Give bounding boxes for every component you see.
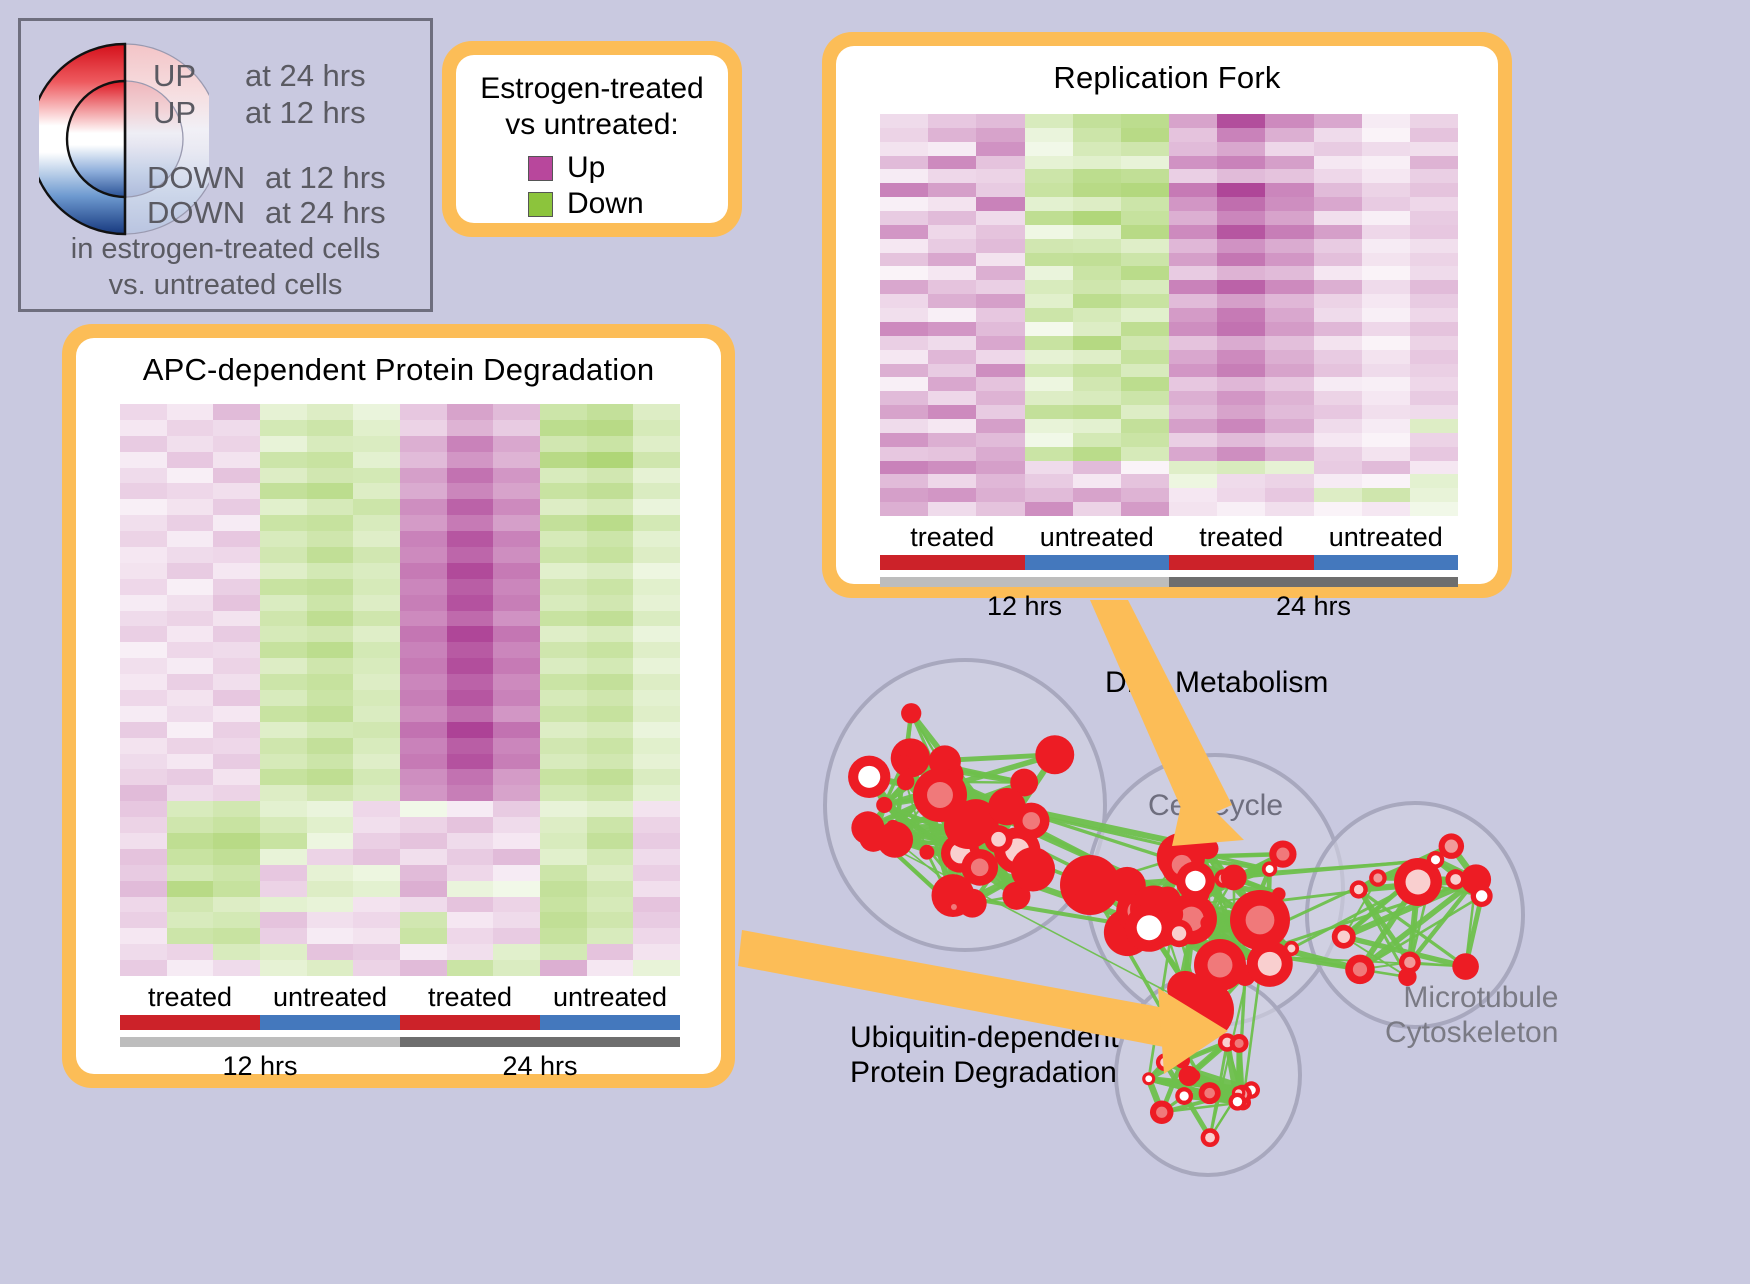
heatmap-cell — [400, 754, 447, 770]
network-label-ubiquitin-degradation: Ubiquitin-dependent Protein Degradation — [850, 1020, 1119, 1091]
heatmap-cell — [1265, 419, 1313, 433]
heatmap-cell — [213, 944, 260, 960]
heatmap-cell — [540, 420, 587, 436]
heatmap-cell — [1265, 280, 1313, 294]
network-node-core — [1160, 1058, 1169, 1067]
heatmap-cell — [447, 642, 494, 658]
down-label: Down — [567, 187, 644, 221]
heatmap-cell — [1217, 197, 1265, 211]
heatmap-cell — [167, 801, 214, 817]
network-node — [1452, 953, 1479, 980]
heatmap-cell — [1410, 266, 1458, 280]
timepoint-label: 24 hrs — [1169, 591, 1458, 622]
heatmap-cell — [307, 563, 354, 579]
heatmap-cell — [493, 912, 540, 928]
heatmap-cell — [260, 515, 307, 531]
heatmap-cell — [928, 253, 976, 267]
heatmap-cell — [1410, 183, 1458, 197]
heatmap-cell — [1073, 405, 1121, 419]
network-node-core — [1476, 890, 1487, 901]
heatmap-cell — [120, 738, 167, 754]
heatmap-cell — [167, 547, 214, 563]
heatmap-cell — [633, 611, 680, 627]
heatmap-cell — [1362, 377, 1410, 391]
heatmap-cell — [928, 405, 976, 419]
heatmap-cell — [587, 626, 634, 642]
heatmap-cell — [307, 658, 354, 674]
heatmap-cell — [400, 579, 447, 595]
heatmap-cell — [353, 690, 400, 706]
heatmap-cell — [633, 897, 680, 913]
timepoint-label-row: 12 hrs24 hrs — [880, 591, 1458, 622]
heatmap-cell — [120, 579, 167, 595]
heatmap-cell — [587, 468, 634, 484]
heatmap-cell — [1121, 350, 1169, 364]
heatmap-cell — [928, 266, 976, 280]
heatmap-cell — [353, 912, 400, 928]
heatmap-cell — [633, 674, 680, 690]
heatmap-cell — [353, 738, 400, 754]
network-node-core — [1404, 957, 1415, 968]
heatmap-cell — [447, 769, 494, 785]
heatmap-cell — [1217, 156, 1265, 170]
heatmap-cell — [1314, 114, 1362, 128]
heatmap-cell — [213, 595, 260, 611]
heatmap-cell — [587, 960, 634, 976]
heatmap-cell — [976, 253, 1024, 267]
heatmap-cell — [976, 447, 1024, 461]
heatmap-cell — [540, 754, 587, 770]
heatmap-cell — [1314, 197, 1362, 211]
ring-row-1-direction: UP — [153, 95, 196, 131]
heatmap-cell — [976, 336, 1024, 350]
heatmap-cell — [1265, 461, 1313, 475]
heatmap-cell — [633, 849, 680, 865]
heatmap-cell — [400, 436, 447, 452]
heatmap-cell — [307, 531, 354, 547]
heatmap-cell — [167, 897, 214, 913]
heatmap-cell — [120, 706, 167, 722]
heatmap-cell — [633, 754, 680, 770]
heatmap-cell — [928, 474, 976, 488]
heatmap-cell — [307, 801, 354, 817]
heatmap-cell — [213, 738, 260, 754]
heatmap-cell — [167, 611, 214, 627]
ring-row-3-time: at 24 hrs — [265, 195, 386, 231]
heatmap-cell — [587, 865, 634, 881]
heatmap-cell — [353, 722, 400, 738]
heatmap-cell — [167, 912, 214, 928]
heatmap-cell — [1410, 391, 1458, 405]
network-node-core — [971, 859, 989, 877]
heatmap-cell — [1025, 447, 1073, 461]
heatmap-cell — [880, 350, 928, 364]
heatmap-cell — [587, 817, 634, 833]
heatmap-cell — [928, 197, 976, 211]
heatmap-cell — [213, 833, 260, 849]
heatmap-cell — [213, 579, 260, 595]
heatmap-cell — [493, 674, 540, 690]
heatmap-cell — [928, 183, 976, 197]
microtubule-line1: Microtubule — [1385, 980, 1558, 1015]
heatmap-cell — [1121, 336, 1169, 350]
heatmap-cell — [260, 833, 307, 849]
condition-label: treated — [120, 982, 260, 1013]
heatmap-cell — [633, 738, 680, 754]
heatmap-cell — [307, 499, 354, 515]
heatmap-cell — [880, 169, 928, 183]
heatmap-cell — [1265, 364, 1313, 378]
heatmap-cell — [976, 488, 1024, 502]
heatmap-cell — [1073, 294, 1121, 308]
heatmap-cell — [540, 706, 587, 722]
heatmap-cell — [120, 404, 167, 420]
heatmap-cell — [1025, 280, 1073, 294]
ring-row-0-time: at 24 hrs — [245, 58, 366, 94]
heatmap-cell — [1073, 461, 1121, 475]
heatmap-cell — [1169, 294, 1217, 308]
heatmap-cell — [1314, 461, 1362, 475]
heatmap-cell — [353, 928, 400, 944]
heatmap-cell — [587, 642, 634, 658]
heatmap-cell — [307, 674, 354, 690]
heatmap-cell — [447, 626, 494, 642]
network-node — [1197, 838, 1218, 859]
heatmap-cell — [353, 611, 400, 627]
heatmap-cell — [260, 595, 307, 611]
heatmap-cell — [633, 912, 680, 928]
heatmap-cell — [1073, 502, 1121, 516]
heatmap-cell — [633, 452, 680, 468]
heatmap-cell — [1025, 474, 1073, 488]
heatmap-cell — [1025, 461, 1073, 475]
heatmap-cell — [493, 754, 540, 770]
heatmap-cell — [976, 405, 1024, 419]
heatmap-cell — [880, 225, 928, 239]
heatmap-cell — [307, 960, 354, 976]
heatmap-cell — [260, 706, 307, 722]
heatmap-cell — [1025, 405, 1073, 419]
heatmap-cell — [1314, 447, 1362, 461]
heatmap-cell — [633, 515, 680, 531]
heatmap-cell — [1217, 142, 1265, 156]
heatmap-cell — [928, 350, 976, 364]
heatmap-cell — [633, 944, 680, 960]
replication-fork-panel: Replication Fork treateduntreatedtreated… — [822, 32, 1512, 598]
condition-color-segment — [400, 1015, 540, 1030]
heatmap-cell — [976, 294, 1024, 308]
heatmap-cell — [587, 563, 634, 579]
heatmap-cell — [493, 436, 540, 452]
heatmap-cell — [928, 114, 976, 128]
heatmap-cell — [1410, 197, 1458, 211]
heatmap-cell — [307, 769, 354, 785]
network-node — [1060, 855, 1120, 915]
heatmap-cell — [447, 817, 494, 833]
heatmap-cell — [400, 706, 447, 722]
heatmap-cell — [260, 563, 307, 579]
heatmap-cell — [447, 483, 494, 499]
heatmap-cell — [1362, 211, 1410, 225]
heatmap-cell — [587, 420, 634, 436]
network-node — [1035, 735, 1074, 774]
heatmap-cell — [1314, 253, 1362, 267]
heatmap-cell — [1025, 169, 1073, 183]
heatmap-cell — [1217, 211, 1265, 225]
heatmap-cell — [260, 738, 307, 754]
heatmap-cell — [353, 483, 400, 499]
heatmap-cell — [353, 626, 400, 642]
heatmap-cell — [1265, 211, 1313, 225]
network-node-core — [1373, 873, 1382, 882]
condition-color-bar — [120, 1015, 680, 1030]
heatmap-cell — [1217, 114, 1265, 128]
network-node-core — [1338, 931, 1350, 943]
heatmap-cell — [353, 960, 400, 976]
heatmap-cell — [880, 308, 928, 322]
heatmap-cell — [633, 706, 680, 722]
heatmap-cell — [167, 865, 214, 881]
heatmap-cell — [260, 499, 307, 515]
heatmap-cell — [633, 436, 680, 452]
heatmap-cell — [120, 420, 167, 436]
heatmap-cell — [167, 817, 214, 833]
network-node-core — [1258, 952, 1282, 976]
heatmap-cell — [1073, 266, 1121, 280]
heatmap-cell — [880, 253, 928, 267]
heatmap-cell — [213, 706, 260, 722]
heatmap-cell — [493, 563, 540, 579]
heatmap-cell — [1314, 183, 1362, 197]
heatmap-cell — [1169, 253, 1217, 267]
heatmap-cell — [447, 420, 494, 436]
heatmap-cell — [213, 436, 260, 452]
heatmap-cell — [447, 468, 494, 484]
heatmap-cell — [260, 849, 307, 865]
heatmap-cell — [1217, 266, 1265, 280]
heatmap-cell — [400, 928, 447, 944]
heatmap-cell — [1362, 336, 1410, 350]
heatmap-cell — [1217, 239, 1265, 253]
heatmap-cell — [1362, 474, 1410, 488]
ring-row-3-direction: DOWN — [147, 195, 245, 231]
heatmap-cell — [260, 642, 307, 658]
heatmap-cell — [1169, 142, 1217, 156]
heatmap-cell — [447, 515, 494, 531]
heatmap-cell — [540, 897, 587, 913]
heatmap-cell — [307, 611, 354, 627]
network-label-microtubule-cytoskeleton: Microtubule Cytoskeleton — [1385, 980, 1558, 1051]
heatmap-cell — [493, 897, 540, 913]
heatmap-cell — [120, 785, 167, 801]
heatmap-cell — [587, 674, 634, 690]
heatmap-cell — [1169, 350, 1217, 364]
heatmap-cell — [1073, 488, 1121, 502]
heatmap-cell — [447, 436, 494, 452]
heatmap-cell — [1314, 128, 1362, 142]
heatmap-cell — [493, 642, 540, 658]
heatmap-cell — [260, 928, 307, 944]
heatmap-cell — [120, 960, 167, 976]
heatmap-cell — [1025, 253, 1073, 267]
heatmap-cell — [1217, 225, 1265, 239]
heatmap-cell — [493, 499, 540, 515]
heatmap-cell — [1410, 253, 1458, 267]
heatmap-cell — [587, 738, 634, 754]
heatmap-cell — [1410, 280, 1458, 294]
heatmap-cell — [1073, 128, 1121, 142]
heatmap-cell — [447, 801, 494, 817]
heatmap-cell — [1169, 128, 1217, 142]
heatmap-cell — [1314, 266, 1362, 280]
heatmap-cell — [353, 865, 400, 881]
heatmap-cell — [447, 499, 494, 515]
heatmap-cell — [1410, 502, 1458, 516]
heatmap-cell — [1025, 225, 1073, 239]
heatmap-cell — [213, 785, 260, 801]
heatmap-cell — [928, 433, 976, 447]
heatmap-cell — [976, 350, 1024, 364]
heatmap-cell — [167, 754, 214, 770]
heatmap-cell — [1025, 308, 1073, 322]
heatmap-cell — [1025, 488, 1073, 502]
heatmap-cell — [120, 595, 167, 611]
heatmap-cell — [633, 626, 680, 642]
heatmap-cell — [400, 611, 447, 627]
network-label-dna-metabolism: DNA Metabolism — [1105, 665, 1328, 700]
heatmap-cell — [400, 738, 447, 754]
heatmap-cell — [928, 336, 976, 350]
heatmap-cell — [120, 801, 167, 817]
heatmap-cell — [167, 706, 214, 722]
heatmap-cell — [1121, 142, 1169, 156]
microtubule-line2: Cytoskeleton — [1385, 1015, 1558, 1050]
heatmap-cell — [447, 754, 494, 770]
heatmap-cell — [880, 419, 928, 433]
heatmap-cell — [1314, 391, 1362, 405]
heatmap-cell — [447, 785, 494, 801]
network-node-core — [1406, 870, 1431, 895]
heatmap-cell — [353, 452, 400, 468]
heatmap-cell — [633, 547, 680, 563]
heatmap-cell — [213, 722, 260, 738]
heatmap-cell — [1121, 128, 1169, 142]
condition-label: untreated — [1314, 522, 1459, 553]
heatmap-cell — [1073, 447, 1121, 461]
heatmap-cell — [1362, 502, 1410, 516]
heatmap-cell — [1265, 253, 1313, 267]
heatmap-cell — [353, 436, 400, 452]
heatmap-cell — [1169, 197, 1217, 211]
condition-color-segment — [1169, 555, 1314, 570]
heatmap-cell — [1217, 294, 1265, 308]
heatmap-cell — [167, 738, 214, 754]
heatmap-cell — [260, 658, 307, 674]
heatmap-cell — [1169, 169, 1217, 183]
heatmap-cell — [167, 420, 214, 436]
ring-legend-footer-line1: in estrogen-treated cells — [21, 233, 430, 267]
heatmap-cell — [213, 452, 260, 468]
heatmap-cell — [120, 928, 167, 944]
heatmap-cell — [1217, 322, 1265, 336]
heatmap-cell — [400, 865, 447, 881]
heatmap-cell — [447, 960, 494, 976]
heatmap-cell — [493, 833, 540, 849]
heatmap-cell — [167, 531, 214, 547]
heatmap-cell — [633, 690, 680, 706]
heatmap-cell — [976, 211, 1024, 225]
heatmap-cell — [1410, 350, 1458, 364]
heatmap-cell — [1217, 336, 1265, 350]
heatmap-cell — [1362, 225, 1410, 239]
heatmap-cell — [120, 817, 167, 833]
heatmap-cell — [400, 483, 447, 499]
heatmap-cell — [213, 881, 260, 897]
heatmap-cell — [587, 611, 634, 627]
heatmap-cell — [307, 897, 354, 913]
heatmap-cell — [493, 722, 540, 738]
heatmap-cell — [880, 114, 928, 128]
heatmap-cell — [1025, 211, 1073, 225]
heatmap-cell — [400, 547, 447, 563]
heatmap-cell — [353, 754, 400, 770]
heatmap-cell — [1169, 211, 1217, 225]
heatmap-cell — [1217, 128, 1265, 142]
heatmap-cell — [587, 547, 634, 563]
heatmap-cell — [307, 690, 354, 706]
condition-label-row: treateduntreatedtreateduntreated — [880, 522, 1458, 553]
heatmap-cell — [307, 483, 354, 499]
heatmap-cell — [540, 944, 587, 960]
heatmap-cell — [880, 433, 928, 447]
heatmap-cell — [1362, 142, 1410, 156]
pathway-network-diagram: DNA Metabolism Cell Cycle Microtubule Cy… — [790, 620, 1750, 1279]
heatmap-cell — [1025, 364, 1073, 378]
heatmap-cell — [1121, 183, 1169, 197]
heatmap-cell — [400, 420, 447, 436]
heatmap-cell — [260, 452, 307, 468]
heatmap-cell — [307, 912, 354, 928]
heatmap-cell — [1362, 405, 1410, 419]
heatmap-cell — [1073, 211, 1121, 225]
heatmap-cell — [1314, 419, 1362, 433]
heatmap-cell — [400, 944, 447, 960]
heatmap-cell — [493, 595, 540, 611]
key-title-line2: vs untreated: — [456, 107, 728, 143]
heatmap-cell — [353, 785, 400, 801]
heatmap-cell — [400, 404, 447, 420]
heatmap-cell — [120, 547, 167, 563]
heatmap-cell — [1169, 488, 1217, 502]
heatmap-cell — [880, 364, 928, 378]
heatmap-cell — [1314, 405, 1362, 419]
heatmap-cell — [1314, 433, 1362, 447]
heatmap-cell — [1410, 114, 1458, 128]
heatmap-cell — [120, 881, 167, 897]
heatmap-cell — [1314, 350, 1362, 364]
heatmap-cell — [260, 817, 307, 833]
heatmap-cell — [587, 722, 634, 738]
heatmap-cell — [1265, 183, 1313, 197]
heatmap-cell — [928, 280, 976, 294]
heatmap-cell — [1362, 128, 1410, 142]
network-node-core — [1445, 840, 1458, 853]
heatmap-cell — [1169, 266, 1217, 280]
heatmap-cell — [353, 563, 400, 579]
heatmap-cell — [1169, 502, 1217, 516]
heatmap-cell — [1410, 156, 1458, 170]
heatmap-cell — [120, 690, 167, 706]
